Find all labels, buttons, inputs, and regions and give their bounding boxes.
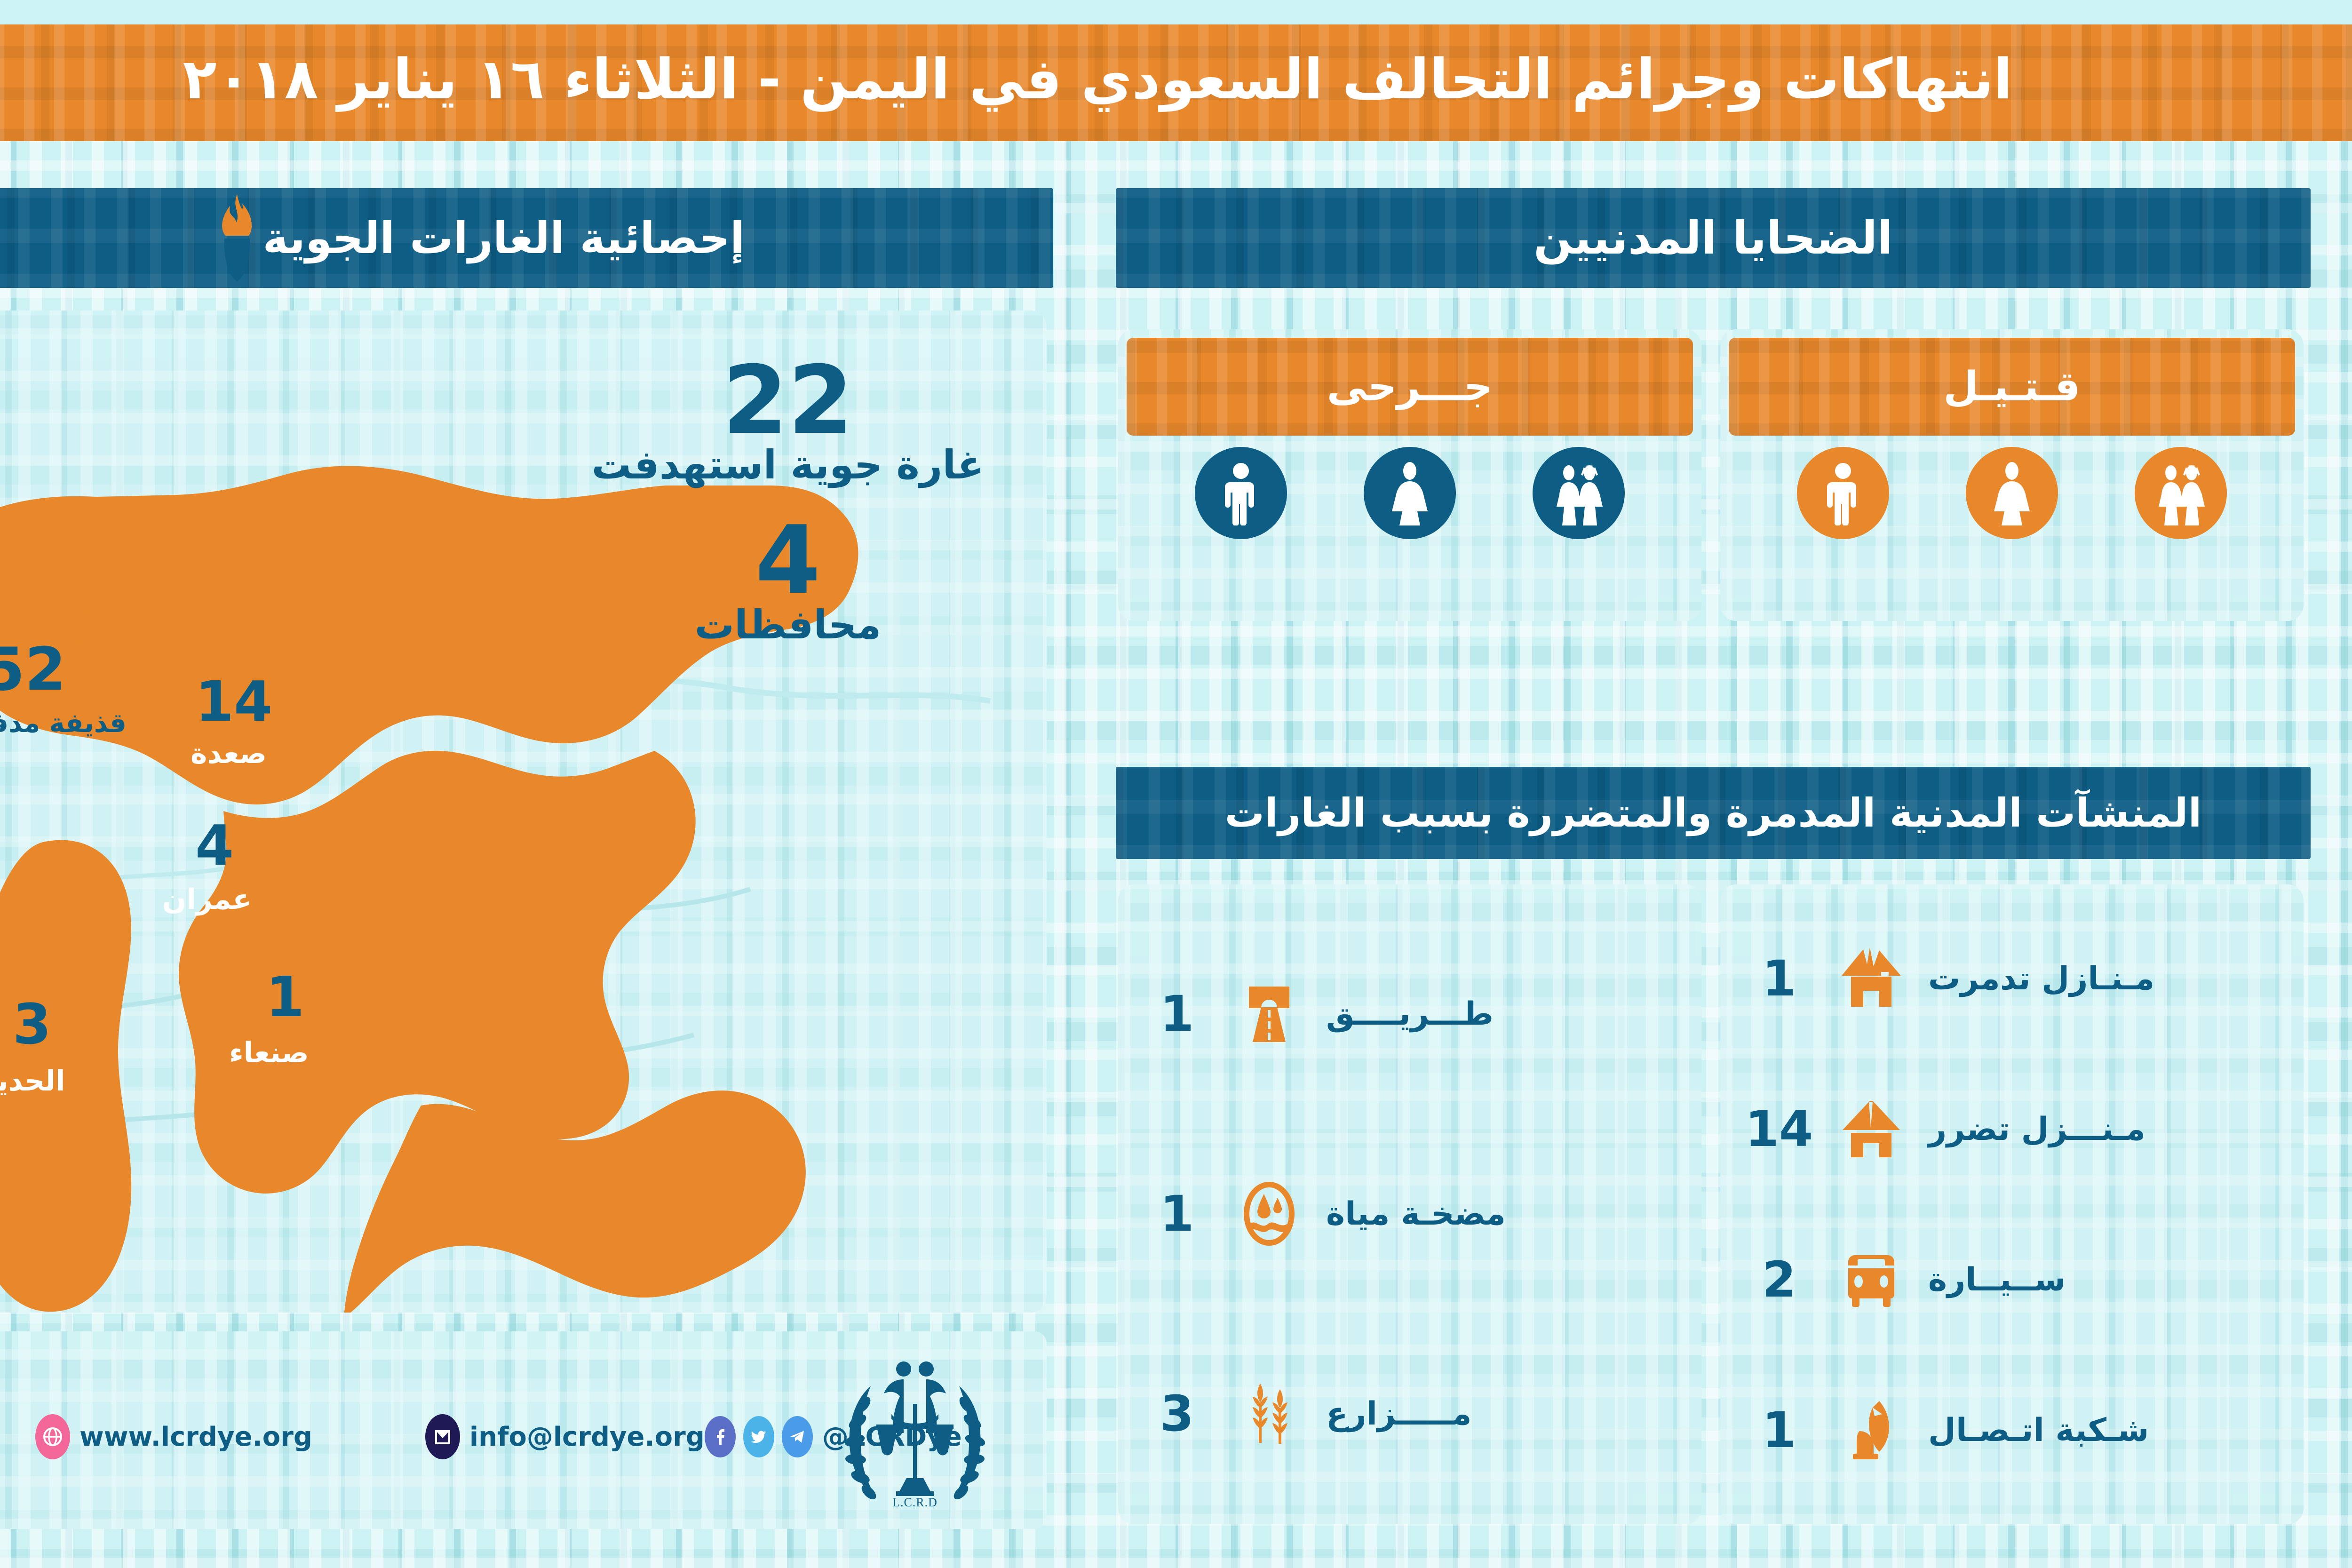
killed-title-bar: قـتـيـل (1729, 338, 2295, 436)
woman-icon (1364, 447, 1456, 539)
raids-stat: 22 غارة جوية استهدفت (562, 358, 1014, 486)
website-item[interactable]: www.lcrdye.org (35, 1414, 312, 1459)
car-icon (1827, 1247, 1916, 1313)
lcrd-acronym: L.C.R.D (892, 1496, 938, 1509)
marker-count-saada: 14 (195, 674, 272, 729)
email-item[interactable]: info@lcrdye.org (425, 1414, 705, 1459)
wheat-icon (1224, 1381, 1314, 1447)
artillery-label: قذيفة مدفعية (0, 710, 127, 737)
road-count: 1 (1142, 989, 1212, 1038)
page-title: انتهاكات وجرائم التحالف السعودي في اليمن… (183, 50, 2013, 115)
damaged-house-count: 14 (1744, 1105, 1814, 1154)
marker-name-amran: عمران (162, 885, 252, 914)
facility-row-road: 1 طـــريــــق (1142, 941, 1678, 1087)
comms-count: 1 (1744, 1406, 1814, 1455)
telegram-icon[interactable] (782, 1416, 813, 1457)
marker-name-sanaa: صنعاء (229, 1039, 309, 1067)
comms-label: شـكبة اتـصـال (1928, 1412, 2149, 1449)
car-count: 2 (1744, 1255, 1814, 1304)
children-icon (2135, 447, 2227, 539)
yemen-map-panel: 52 قذيفة مدفعية 14 صعدة 4 عمران 1 صنعاء … (0, 310, 1047, 1313)
facility-row-car: 2 ســيــارة (1744, 1207, 2280, 1353)
victims-card-wounded: جـــرحى (1118, 329, 1701, 621)
victims-card-killed: قـتـيـل (1720, 329, 2304, 621)
facilities-card-left: 1 طـــريــــق 1 (1118, 884, 1701, 1524)
water-pump-icon (1224, 1181, 1314, 1247)
killed-icons (1720, 447, 2304, 539)
governorates-count: 4 (562, 517, 1014, 604)
facility-row-damaged-house: 14 مـنـــزل تضرر (1744, 1056, 2280, 1202)
victims-section-header: الضحايا المدنيين (1116, 188, 2311, 288)
woman-icon (1966, 447, 2058, 539)
flame-bomb-icon (211, 193, 263, 283)
facility-row-water-pump: 1 مضخـة مياة (1142, 1141, 1678, 1287)
raids-count: 22 (562, 358, 1014, 444)
water-pump-count: 1 (1142, 1189, 1212, 1238)
marker-count-sanaa: 1 (266, 969, 304, 1025)
website-text: www.lcrdye.org (79, 1422, 312, 1452)
social-badges (705, 1416, 813, 1457)
wounded-icons (1118, 447, 1701, 539)
road-icon (1224, 981, 1314, 1047)
damaged-house-label: مـنـــزل تضرر (1928, 1111, 2145, 1148)
marker-name-hudaydah: الحديدة (0, 1067, 65, 1095)
page-title-bar: انتهاكات وجرائم التحالف السعودي في اليمن… (0, 24, 2352, 141)
marker-name-saada: صعدة (191, 740, 267, 768)
twitter-icon[interactable] (743, 1416, 774, 1457)
raids-label: غارة جوية استهدفت (562, 444, 1014, 486)
facebook-icon[interactable] (705, 1416, 736, 1457)
children-icon (1533, 447, 1625, 539)
governorates-label: محافظات (562, 604, 1014, 645)
destroyed-house-icon (1827, 946, 1916, 1011)
facilities-right-list: 1 مـنـازل تدمرت 14 مـنـــزل تضرر 2 (1720, 884, 2304, 1524)
destroyed-houses-count: 1 (1744, 954, 1814, 1003)
facility-row-comms-network: 1 شـكبة اتـصـال (1744, 1357, 2280, 1503)
globe-icon (35, 1414, 70, 1459)
facilities-left-list: 1 طـــريــــق 1 (1118, 884, 1701, 1524)
destroyed-houses-label: مـنـازل تدمرت (1928, 960, 2154, 997)
marker-count-hudaydah: 3 (13, 996, 51, 1052)
title-top-strip (0, 0, 2352, 24)
killed-label: قـتـيـل (1943, 363, 2080, 410)
artillery-count: 52 (0, 640, 66, 699)
farms-count: 3 (1142, 1389, 1212, 1438)
governorates-stat: 4 محافظات (562, 517, 1014, 645)
facilities-section-title: المنشآت المدنية المدمرة والمتضررة بسبب ا… (1225, 790, 2202, 836)
airstrikes-section-header: إحصائية الغارات الجوية (0, 188, 1053, 288)
man-icon (1797, 447, 1889, 539)
satellite-dish-icon (1827, 1397, 1916, 1463)
farms-label: مـــــزارع (1326, 1395, 1472, 1433)
airstrikes-section-title: إحصائية الغارات الجوية (263, 213, 745, 263)
car-label: ســيــارة (1928, 1261, 2066, 1298)
footer-panel: www.lcrdye.org info@lcrdye.org (0, 1331, 1047, 1529)
house-icon (1827, 1096, 1916, 1162)
marker-count-amran: 4 (195, 818, 234, 873)
facilities-card-right: 1 مـنـازل تدمرت 14 مـنـــزل تضرر 2 (1720, 884, 2304, 1524)
victims-section-title: الضحايا المدنيين (1534, 212, 1893, 264)
water-pump-label: مضخـة مياة (1326, 1195, 1506, 1233)
facility-row-destroyed-houses: 1 مـنـازل تدمرت (1744, 906, 2280, 1051)
email-text: info@lcrdye.org (469, 1422, 705, 1452)
facilities-section-header: المنشآت المدنية المدمرة والمتضررة بسبب ا… (1116, 767, 2311, 859)
wounded-title-bar: جـــرحى (1127, 338, 1693, 436)
lcrd-logo: L.C.R.D (826, 1355, 1004, 1510)
mail-icon (425, 1414, 460, 1459)
facility-row-farms: 3 (1142, 1341, 1678, 1487)
wounded-label: جـــرحى (1327, 363, 1493, 410)
man-icon (1195, 447, 1287, 539)
road-label: طـــريــــق (1326, 995, 1494, 1033)
